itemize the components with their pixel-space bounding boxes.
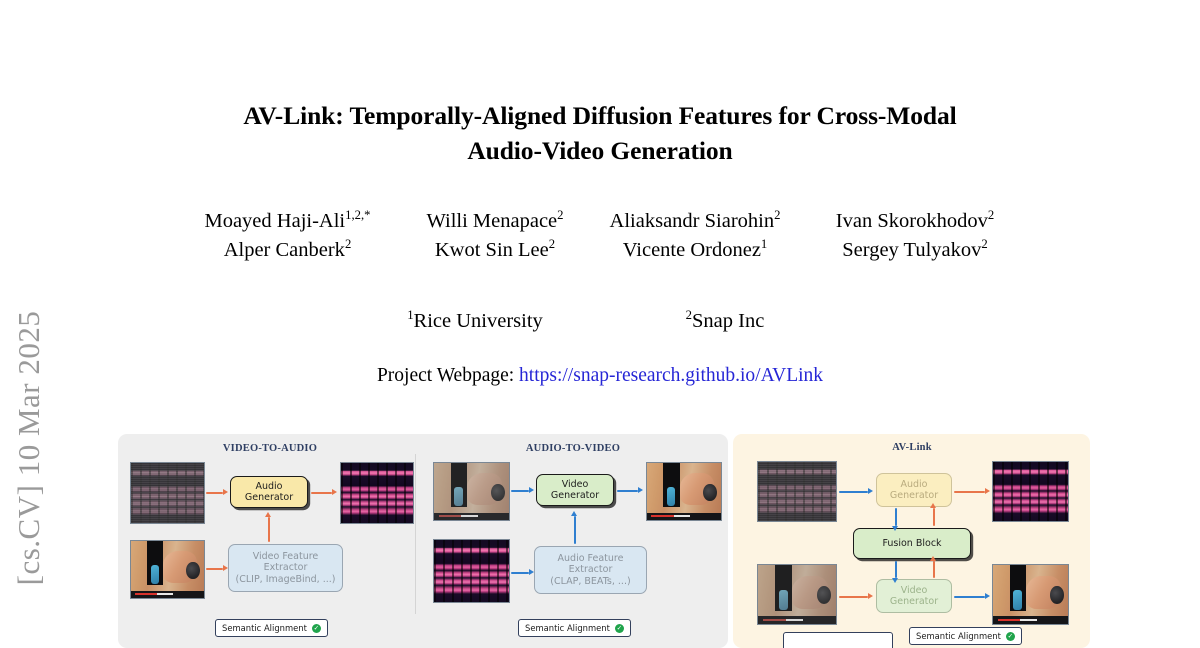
author: Vicente Ordonez1 bbox=[588, 236, 803, 265]
panel-title-video-to-audio: VIDEO-TO-AUDIO bbox=[190, 443, 350, 454]
check-icon: ✓ bbox=[615, 624, 624, 633]
check-icon: ✓ bbox=[312, 624, 321, 633]
check-icon: ✓ bbox=[1006, 632, 1015, 641]
author-name: Sergey Tulyakov bbox=[842, 239, 981, 261]
input-video-thumbnail bbox=[130, 540, 205, 599]
author-name: Alper Canberk bbox=[224, 239, 345, 261]
title-line-2: Audio-Video Generation bbox=[180, 133, 1020, 168]
author-affiliation-marker: 2 bbox=[345, 237, 351, 251]
figure-panel-baselines: VIDEO-TO-AUDIO Audio Generator Video Fea… bbox=[118, 434, 728, 648]
author-affiliation-marker: 2 bbox=[988, 208, 994, 222]
author: Ivan Skorokhodov2 bbox=[803, 207, 1028, 236]
node-video-generator: Video Generator bbox=[876, 579, 952, 613]
badge-semantic-alignment: Semantic Alignment ✓ bbox=[909, 627, 1022, 645]
author-name: Moayed Haji-Ali bbox=[204, 210, 345, 232]
badge-semantic-alignment: Semantic Alignment ✓ bbox=[518, 619, 631, 637]
output-spectrogram bbox=[340, 462, 414, 524]
panel-title-audio-to-video: AUDIO-TO-VIDEO bbox=[493, 443, 653, 454]
author-list: Moayed Haji-Ali1,2,* Willi Menapace2 Ali… bbox=[140, 207, 1060, 265]
author-name: Vicente Ordonez bbox=[623, 239, 761, 261]
input-noise-spectrogram bbox=[757, 461, 837, 522]
author-name: Kwot Sin Lee bbox=[435, 239, 549, 261]
node-video-feature-extractor: Video Feature Extractor (CLIP, ImageBind… bbox=[228, 544, 343, 592]
affiliation: 2Snap Inc bbox=[600, 310, 850, 333]
author-affiliation-marker: 1 bbox=[761, 237, 767, 251]
node-audio-generator: Audio Generator bbox=[230, 476, 308, 508]
author: Kwot Sin Lee2 bbox=[403, 236, 588, 265]
author-name: Ivan Skorokhodov bbox=[836, 210, 988, 232]
author-name: Aliaksandr Siarohin bbox=[610, 210, 775, 232]
affiliation-name: Rice University bbox=[414, 310, 543, 332]
author-row-2: Alper Canberk2 Kwot Sin Lee2 Vicente Ord… bbox=[140, 236, 1060, 265]
node-video-generator: Video Generator bbox=[536, 474, 614, 506]
panel-divider bbox=[415, 454, 416, 614]
panel-title-av-link: AV-Link bbox=[857, 442, 967, 453]
node-audio-generator: Audio Generator bbox=[876, 473, 952, 507]
node-fusion-block: Fusion Block bbox=[853, 528, 971, 559]
author-affiliation-marker: 2 bbox=[981, 237, 987, 251]
teaser-figure: VIDEO-TO-AUDIO Audio Generator Video Fea… bbox=[118, 434, 1090, 648]
input-video-noise-thumbnail bbox=[433, 462, 510, 521]
author: Moayed Haji-Ali1,2,* bbox=[173, 207, 403, 236]
input-video-thumbnail bbox=[757, 564, 837, 625]
affiliation: 1Rice University bbox=[350, 310, 600, 333]
badge-label: Semantic Alignment bbox=[222, 623, 307, 633]
author: Sergey Tulyakov2 bbox=[803, 236, 1028, 265]
affiliation-name: Snap Inc bbox=[692, 310, 764, 332]
author: Alper Canberk2 bbox=[173, 236, 403, 265]
affiliation-list: 1Rice University2Snap Inc bbox=[300, 310, 900, 333]
output-spectrogram bbox=[992, 461, 1069, 522]
paper-page: AV-Link: Temporally-Aligned Diffusion Fe… bbox=[0, 0, 1200, 648]
output-video-thumbnail bbox=[646, 462, 722, 521]
project-webpage: Project Webpage: https://snap-research.g… bbox=[250, 365, 950, 387]
project-webpage-label: Project Webpage: bbox=[377, 365, 514, 386]
input-noise-spectrogram bbox=[130, 462, 205, 524]
author-affiliation-marker: 2 bbox=[549, 237, 555, 251]
badge-quality bbox=[783, 632, 893, 648]
badge-label: Semantic Alignment bbox=[525, 623, 610, 633]
project-webpage-link[interactable]: https://snap-research.github.io/AVLink bbox=[519, 365, 823, 386]
author-name: Willi Menapace bbox=[426, 210, 557, 232]
author-affiliation-marker: 2 bbox=[557, 208, 563, 222]
page-title: AV-Link: Temporally-Aligned Diffusion Fe… bbox=[180, 98, 1020, 168]
author-affiliation-marker: 1,2,* bbox=[345, 208, 370, 222]
figure-panel-av-link: AV-Link Audio Generator Fusion Block Vid… bbox=[733, 434, 1090, 648]
author-affiliation-marker: 2 bbox=[774, 208, 780, 222]
author: Willi Menapace2 bbox=[403, 207, 588, 236]
title-line-1: AV-Link: Temporally-Aligned Diffusion Fe… bbox=[180, 98, 1020, 133]
badge-semantic-alignment: Semantic Alignment ✓ bbox=[215, 619, 328, 637]
node-audio-feature-extractor: Audio Feature Extractor (CLAP, BEATs, ..… bbox=[534, 546, 647, 594]
input-spectrogram bbox=[433, 539, 510, 603]
badge-label: Semantic Alignment bbox=[916, 631, 1001, 641]
author-row-1: Moayed Haji-Ali1,2,* Willi Menapace2 Ali… bbox=[140, 207, 1060, 236]
output-video-thumbnail bbox=[992, 564, 1069, 625]
author: Aliaksandr Siarohin2 bbox=[588, 207, 803, 236]
